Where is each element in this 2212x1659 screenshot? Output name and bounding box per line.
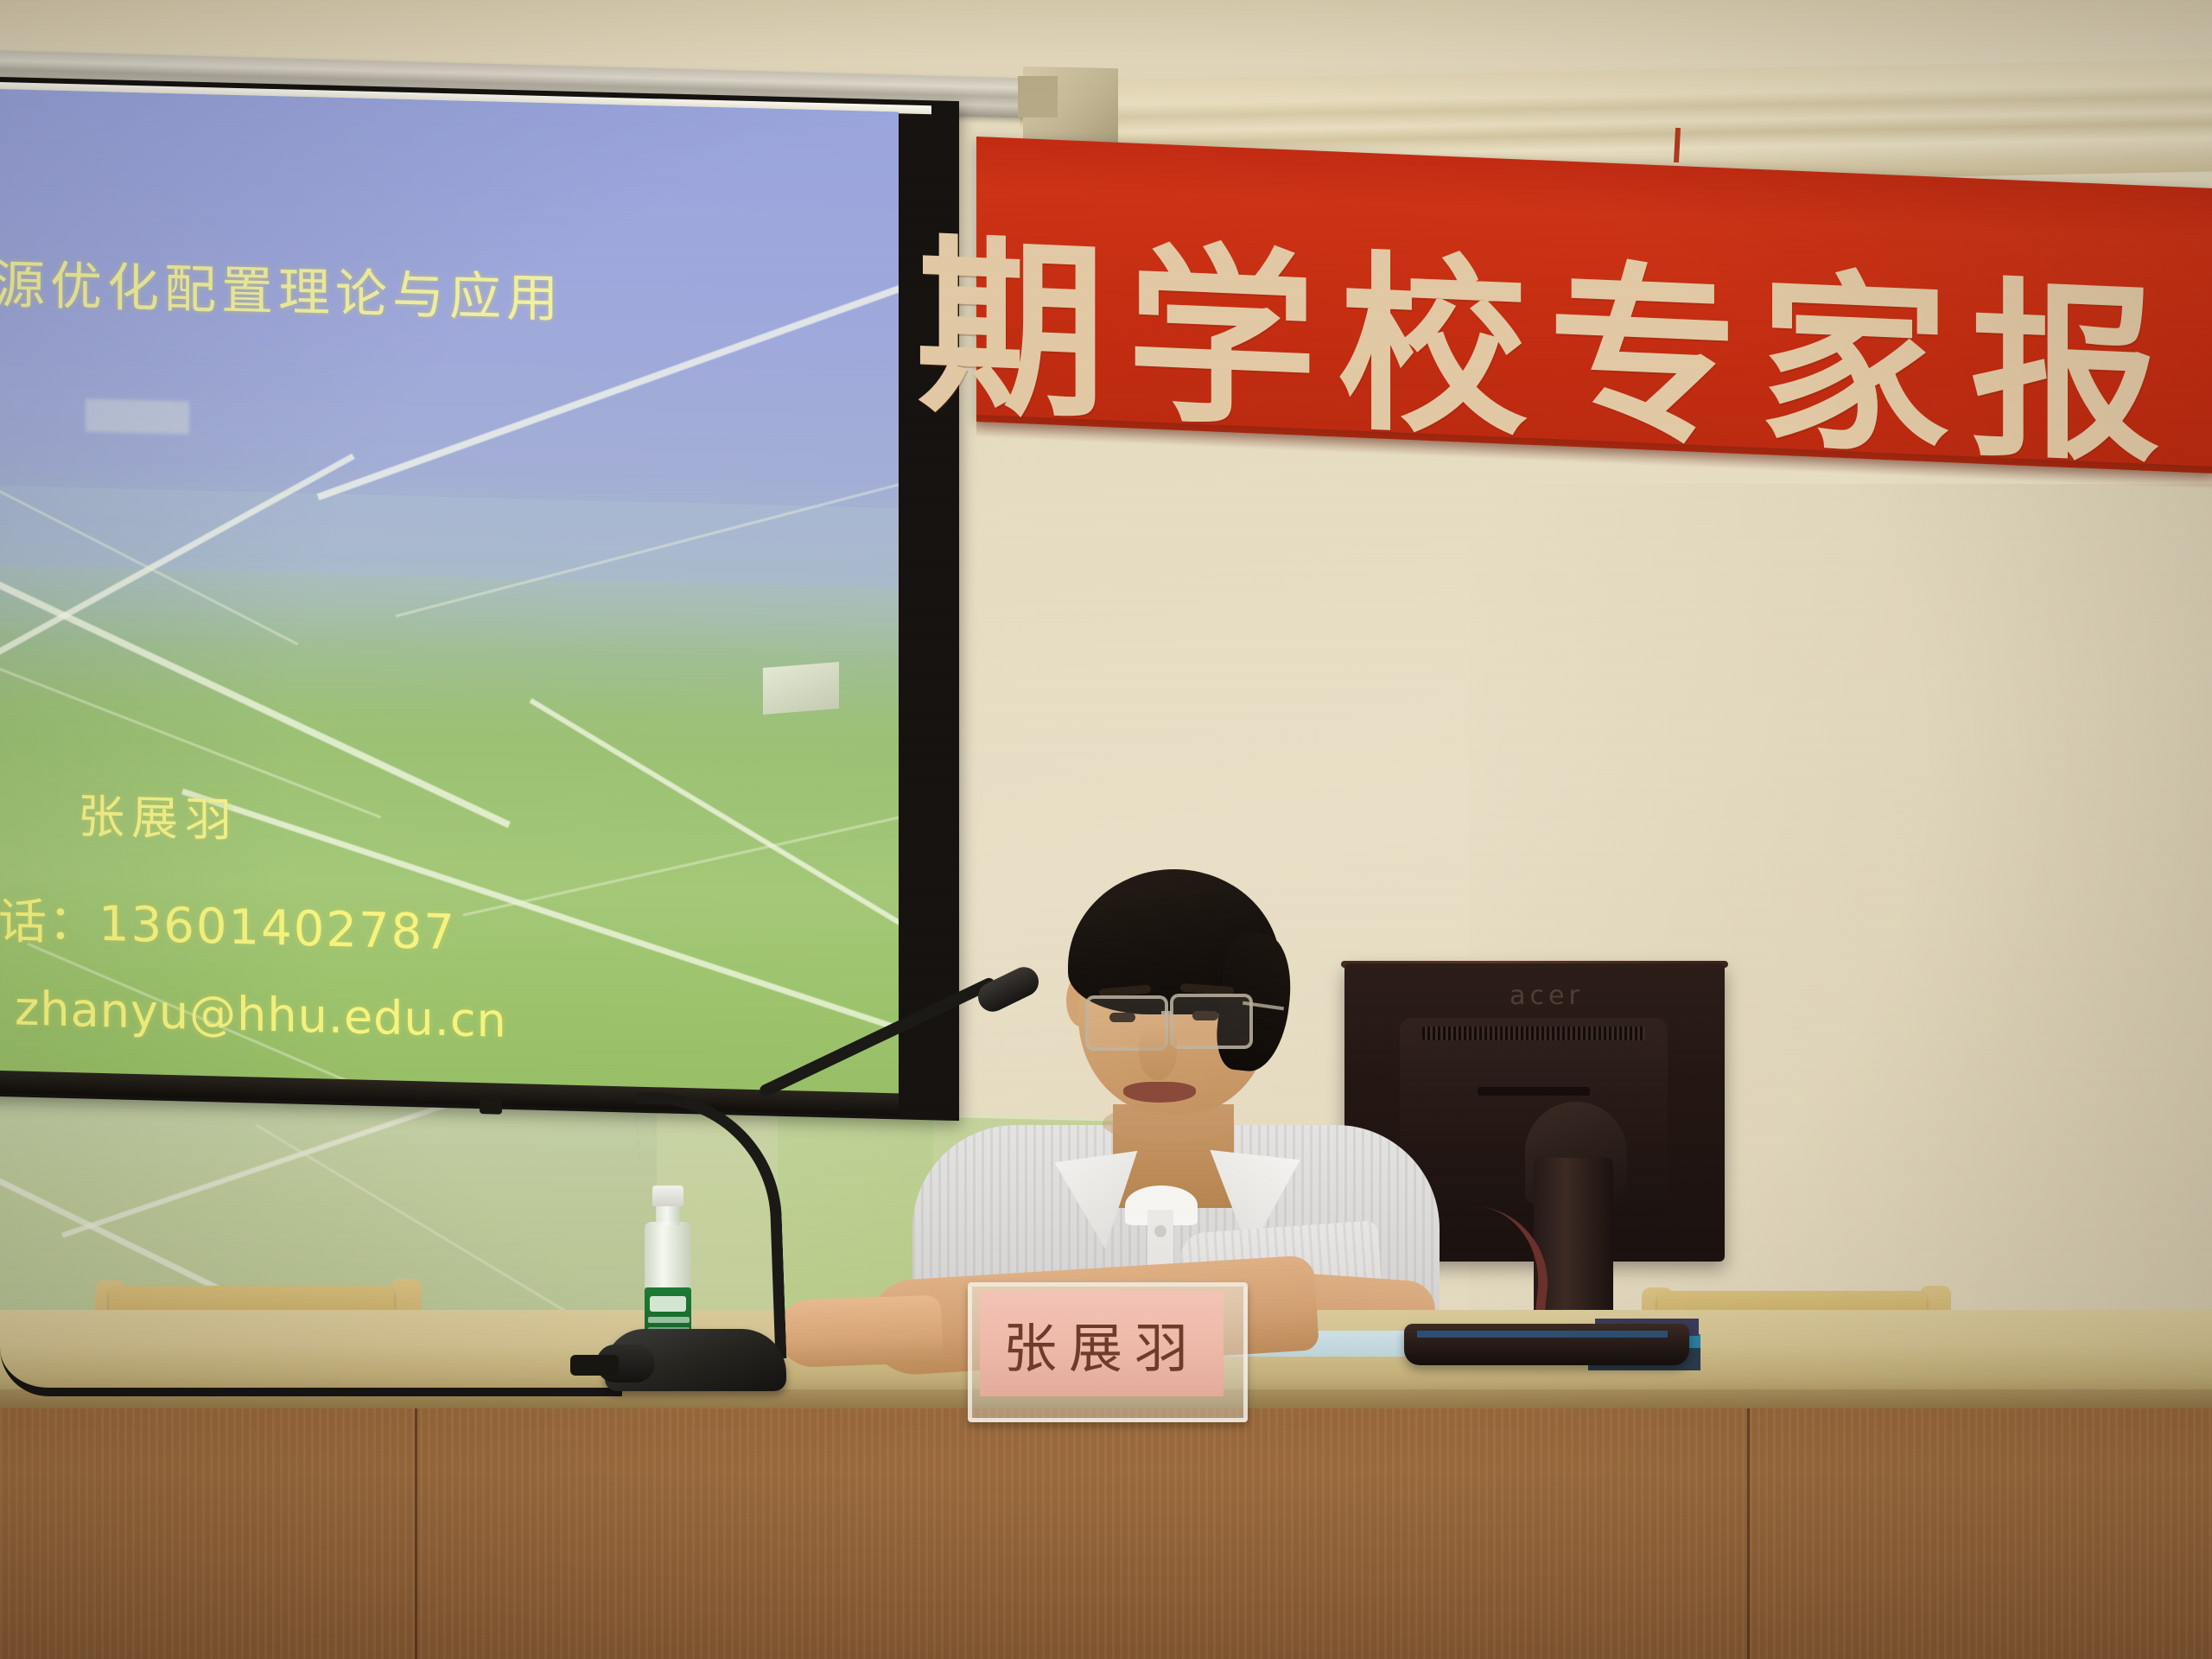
microphone-plug: [570, 1355, 619, 1376]
person-mouth: [1123, 1082, 1196, 1103]
person-chin: [1103, 1104, 1232, 1142]
person-shirt-button: [1154, 1225, 1166, 1237]
monitor-base-accent: [1417, 1331, 1668, 1338]
glasses-lens-right: [1170, 994, 1253, 1049]
slide-phone: 电话：13601402787: [0, 880, 456, 963]
desk-wood-grain: [0, 1408, 2212, 1659]
slide-white-building: [763, 662, 839, 715]
photograph-scene: 土资源优化配置理论与应用 张展羽 电话：13601402787 mail: zh…: [0, 0, 2212, 1659]
desk-panel-seam: [1747, 1408, 1750, 1659]
slide-distant-structures: [86, 398, 189, 434]
person-nose: [1139, 1025, 1177, 1080]
screen-pull-tab[interactable]: [480, 1098, 502, 1115]
person-hand: [777, 1295, 944, 1369]
glasses-bridge: [1161, 1011, 1172, 1014]
nameplate-name: 张展羽: [980, 1305, 1224, 1382]
projection-screen: 土资源优化配置理论与应用 张展羽 电话：13601402787 mail: zh…: [0, 76, 959, 1121]
slide-presenter-name: 张展羽: [78, 778, 238, 850]
microphone-cable: [0, 1348, 622, 1396]
monitor-rear-notch: [1478, 1087, 1590, 1096]
projector-screen-bracket-notch: [1018, 76, 1058, 118]
desk-panel-seam: [415, 1408, 417, 1659]
monitor-vent: [1422, 1027, 1645, 1040]
monitor-brand-label: acer: [1469, 981, 1624, 1011]
banner-text: 期学校专家报: [916, 173, 2212, 505]
slide-surface: 土资源优化配置理论与应用 张展羽 电话：13601402787 mail: zh…: [0, 87, 899, 1103]
